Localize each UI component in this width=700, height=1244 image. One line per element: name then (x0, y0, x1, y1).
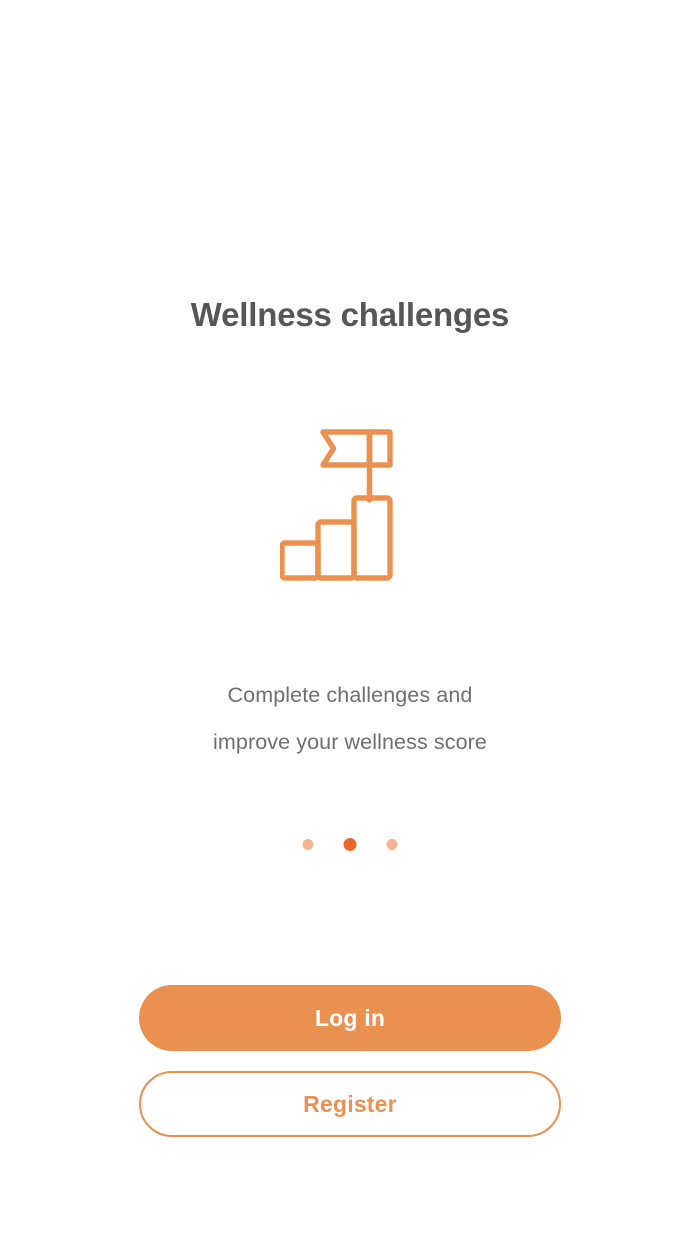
pagination-dot-3[interactable] (387, 839, 398, 850)
login-button[interactable]: Log in (139, 985, 561, 1051)
pagination-dots (303, 838, 398, 851)
subtitle-line-2: improve your wellness score (0, 719, 700, 766)
register-button[interactable]: Register (139, 1071, 561, 1137)
action-buttons: Log in Register (139, 985, 561, 1137)
page-title: Wellness challenges (0, 294, 700, 336)
pagination-dot-1[interactable] (303, 839, 314, 850)
bar-chart-flag-icon (280, 424, 420, 586)
page-subtitle: Complete challenges and improve your wel… (0, 672, 700, 766)
subtitle-line-1: Complete challenges and (0, 672, 700, 719)
onboarding-screen: Wellness challenges Complete challenges … (0, 0, 700, 1244)
pagination-dot-2-active[interactable] (344, 838, 357, 851)
